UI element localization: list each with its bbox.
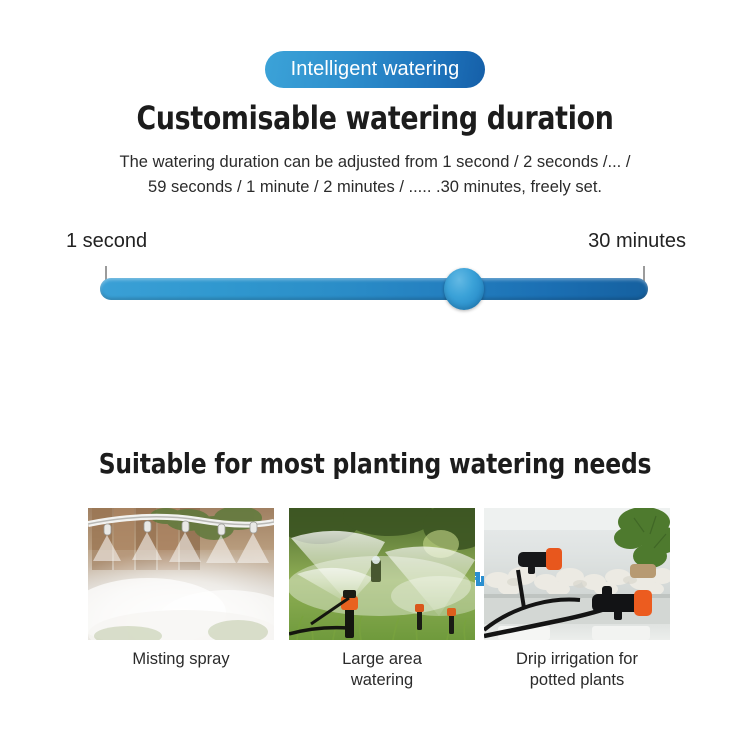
slider-max-label: 30 minutes: [588, 228, 686, 254]
slider-labels: 1 second 30 minutes: [60, 228, 690, 258]
slider-track[interactable]: [100, 278, 648, 300]
drip-irrigation-photo: [484, 508, 670, 640]
card-caption-line-1: Misting spray: [88, 649, 274, 670]
description-line-1: The watering duration can be adjusted fr…: [55, 150, 695, 175]
intelligent-watering-badge: Intelligent watering: [265, 51, 486, 88]
page-title: Customisable watering duration: [26, 99, 724, 137]
card-caption: Large area watering: [289, 649, 475, 691]
large-area-watering-photo: [289, 508, 475, 640]
slider-min-label: 1 second: [66, 228, 147, 254]
slider-thumb[interactable]: [444, 268, 484, 310]
use-case-cards: Misting spray: [0, 508, 750, 718]
card-caption-line-2: potted plants: [484, 670, 670, 691]
card-caption-line-1: Drip irrigation for: [484, 649, 670, 670]
misting-spray-photo: [88, 508, 274, 640]
badge-row: Intelligent watering: [0, 51, 750, 88]
use-case-card[interactable]: Large area watering: [289, 508, 475, 691]
section-title: Suitable for most planting watering need…: [26, 447, 724, 481]
card-caption: Drip irrigation for potted plants: [484, 649, 670, 691]
card-caption-line-1: Large area: [289, 649, 475, 670]
use-case-card[interactable]: Drip irrigation for potted plants: [484, 508, 670, 691]
card-caption-line-2: watering: [289, 670, 475, 691]
use-case-card[interactable]: Misting spray: [88, 508, 274, 670]
card-caption: Misting spray: [88, 649, 274, 670]
duration-slider-section: 1 second 30 minutes: [0, 228, 750, 348]
description-text: The watering duration can be adjusted fr…: [55, 150, 695, 200]
description-line-2: 59 seconds / 1 minute / 2 minutes / ....…: [55, 175, 695, 200]
